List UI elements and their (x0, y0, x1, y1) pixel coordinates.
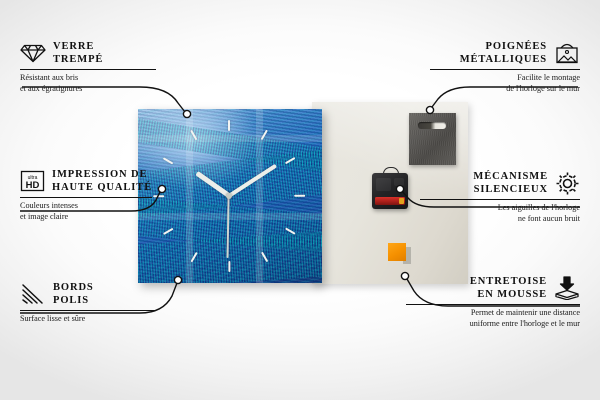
callout-title: BORDS POLIS (53, 281, 94, 307)
callout-desc-line1: Facilite le montage (430, 73, 580, 84)
callout-title: VERRE TREMPÉ (53, 40, 103, 66)
callout-desc-line1: Les aiguilles de l'horloge (420, 203, 580, 214)
callout-desc-line1: Permet de maintenir une distance (406, 308, 580, 319)
callout-header: POIGNÉES MÉTALLIQUES (430, 40, 580, 66)
clock-movement (372, 171, 408, 209)
callout-divider (20, 310, 156, 311)
callout-title: IMPRESSION DE HAUTE QUALITÉ (52, 168, 152, 194)
callout-title: MÉCANISME SILENCIEUX (420, 170, 548, 196)
aa-battery (375, 197, 405, 205)
hands-hub (226, 193, 232, 199)
ultra-hd-icon: ultra HD (20, 170, 45, 192)
movement-panel-detail (376, 178, 391, 191)
infographic-stage: VERRE TREMPÉ Résistant aux bris et aux é… (0, 0, 600, 400)
callout-header: MÉCANISME SILENCIEUX (420, 170, 580, 196)
callout-poignees-metalliques[interactable]: POIGNÉES MÉTALLIQUES Facilite le montage… (430, 40, 580, 94)
product-photo (138, 102, 468, 284)
battery-terminal (399, 198, 404, 204)
callout-desc-line2: de l'horloge sur le mur (430, 84, 580, 95)
callout-desc-line2: et aux égratignures (20, 84, 170, 95)
metal-hanger-plate (409, 113, 456, 165)
callout-header: ENTRETOISE EN MOUSSE (406, 275, 580, 301)
callout-header: BORDS POLIS (20, 281, 170, 307)
diamond-icon (20, 43, 46, 63)
callout-entretoise-en-mousse[interactable]: ENTRETOISE EN MOUSSE Permet de maintenir… (406, 275, 580, 329)
movement-housing (372, 173, 408, 209)
hanger-keyhole-slot (418, 122, 446, 129)
callout-divider (20, 197, 152, 198)
callout-mecanisme-silencieux[interactable]: MÉCANISME SILENCIEUX Les aiguilles de l'… (420, 170, 580, 224)
print-grid-line (138, 135, 322, 142)
svg-text:HD: HD (26, 180, 40, 191)
foam-spacer-surface (388, 243, 406, 261)
gear-icon (555, 171, 580, 196)
callout-desc-line2: ne font aucun bruit (420, 214, 580, 225)
callout-header: VERRE TREMPÉ (20, 40, 170, 66)
callout-desc-line2: uniforme entre l'horloge et le mur (406, 319, 580, 330)
callout-desc-line1: Surface lisse et sûre (20, 314, 170, 325)
callout-title: POIGNÉES MÉTALLIQUES (430, 40, 547, 66)
polished-edges-icon (20, 283, 46, 305)
foam-spacer-pad (388, 243, 406, 261)
callout-impression-haute-qualite[interactable]: ultra HD IMPRESSION DE HAUTE QUALITÉ Cou… (20, 168, 180, 222)
callout-divider (430, 69, 580, 70)
hour-marker (163, 157, 174, 165)
callout-desc-line1: Couleurs intenses (20, 201, 180, 212)
callout-title: ENTRETOISE EN MOUSSE (406, 275, 547, 301)
callout-desc-line1: Résistant aux bris (20, 73, 170, 84)
hour-marker (228, 120, 230, 131)
foam-spacer-icon (554, 276, 580, 300)
callout-verre-trempe[interactable]: VERRE TREMPÉ Résistant aux bris et aux é… (20, 40, 170, 94)
callout-bords-polis[interactable]: BORDS POLIS Surface lisse et sûre (20, 281, 170, 325)
picture-hanger-icon (554, 42, 580, 64)
callout-divider (406, 304, 580, 305)
hour-marker (228, 261, 230, 272)
callout-divider (420, 199, 580, 200)
callout-header: ultra HD IMPRESSION DE HAUTE QUALITÉ (20, 168, 180, 194)
callout-divider (20, 69, 156, 70)
callout-desc-line2: et image claire (20, 212, 180, 223)
movement-panel-detail-2 (394, 178, 404, 186)
